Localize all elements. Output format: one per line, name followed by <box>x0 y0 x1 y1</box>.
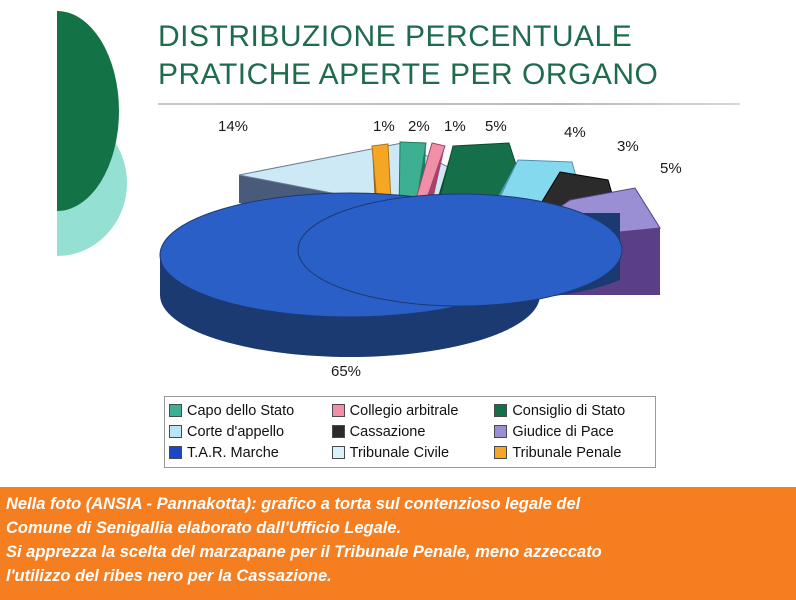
slide-canvas: DISTRIBUZIONE PERCENTUALE PRATICHE APERT… <box>0 0 796 487</box>
legend-label: T.A.R. Marche <box>187 445 279 461</box>
legend-row: Corte d'appello Cassazione Giudice di Pa… <box>169 421 651 442</box>
slice-tar-marche[interactable] <box>160 193 622 357</box>
caption-line-2: Comune di Senigallia elaborato dall'Uffi… <box>6 516 790 540</box>
legend-label: Corte d'appello <box>187 424 284 440</box>
legend-label: Giudice di Pace <box>512 424 614 440</box>
pct-label-cassazione: 3% <box>617 138 639 155</box>
leaf-graphic <box>0 0 150 300</box>
legend-row: Capo dello Stato Collegio arbitrale Cons… <box>169 400 651 421</box>
legend-item-corte-dappello[interactable]: Corte d'appello <box>169 421 332 442</box>
pct-label-collegio-arbitrale: 1% <box>444 118 466 135</box>
legend-item-consiglio-di-stato[interactable]: Consiglio di Stato <box>494 400 651 421</box>
title-line-2: PRATICHE APERTE PER ORGANO <box>158 56 748 94</box>
page-title: DISTRIBUZIONE PERCENTUALE PRATICHE APERT… <box>158 18 748 94</box>
pct-label-tar-marche: 65% <box>331 363 361 380</box>
caption-line-4: l'utilizzo del ribes nero per la Cassazi… <box>6 564 790 588</box>
legend-label: Consiglio di Stato <box>512 403 625 419</box>
legend-label: Collegio arbitrale <box>350 403 459 419</box>
pct-label-consiglio-di-stato: 5% <box>485 118 507 135</box>
legend-item-cassazione[interactable]: Cassazione <box>332 421 495 442</box>
legend-label: Tribunale Penale <box>512 445 621 461</box>
legend-item-capo-dello-stato[interactable]: Capo dello Stato <box>169 400 332 421</box>
legend-swatch-icon <box>332 425 345 438</box>
legend-swatch-icon <box>332 446 345 459</box>
pct-label-tribunale-civile: 14% <box>218 118 248 135</box>
pie-chart-graphic <box>140 110 760 390</box>
legend-swatch-icon <box>494 425 507 438</box>
pct-label-capo-dello-stato: 2% <box>408 118 430 135</box>
legend-swatch-icon <box>332 404 345 417</box>
legend-swatch-icon <box>169 425 182 438</box>
legend-label: Tribunale Civile <box>350 445 449 461</box>
caption-line-1: Nella foto (ANSIA - Pannakotta): grafico… <box>6 492 790 516</box>
legend-item-tar-marche[interactable]: T.A.R. Marche <box>169 442 332 463</box>
pct-label-tribunale-penale: 1% <box>373 118 395 135</box>
legend-item-tribunale-civile[interactable]: Tribunale Civile <box>332 442 495 463</box>
legend-label: Cassazione <box>350 424 426 440</box>
legend-swatch-icon <box>169 404 182 417</box>
chart-legend: Capo dello Stato Collegio arbitrale Cons… <box>164 396 656 468</box>
legend-item-collegio-arbitrale[interactable]: Collegio arbitrale <box>332 400 495 421</box>
legend-swatch-icon <box>494 404 507 417</box>
caption-line-3: Si apprezza la scelta del marzapane per … <box>6 540 790 564</box>
title-line-1: DISTRIBUZIONE PERCENTUALE <box>158 18 748 56</box>
pct-label-giudice-di-pace: 5% <box>660 160 682 177</box>
legend-item-giudice-di-pace[interactable]: Giudice di Pace <box>494 421 651 442</box>
title-divider <box>158 103 740 105</box>
pie-chart: 14% 1% 2% 1% 5% 4% 3% 5% 65% <box>140 110 760 390</box>
pct-label-corte-dappello: 4% <box>564 124 586 141</box>
caption-bar: Nella foto (ANSIA - Pannakotta): grafico… <box>0 487 796 600</box>
legend-swatch-icon <box>169 446 182 459</box>
legend-row: T.A.R. Marche Tribunale Civile Tribunale… <box>169 442 651 463</box>
legend-label: Capo dello Stato <box>187 403 294 419</box>
legend-item-tribunale-penale[interactable]: Tribunale Penale <box>494 442 651 463</box>
legend-swatch-icon <box>494 446 507 459</box>
